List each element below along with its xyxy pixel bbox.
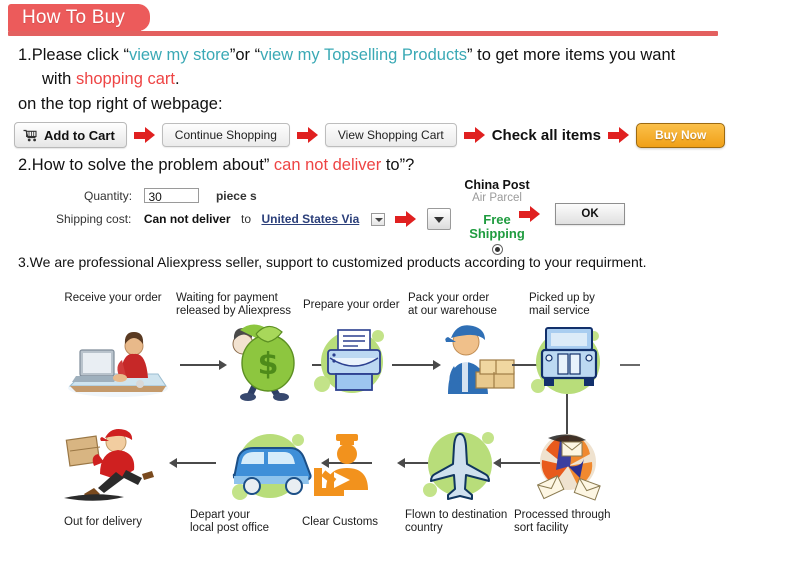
running-courier-icon	[58, 424, 168, 504]
flow-dash-right	[620, 364, 640, 366]
check-all-items-text: Check all items	[492, 127, 601, 144]
quantity-unit-label: piece s	[216, 189, 257, 203]
step1-line3: on the top right of webpage:	[18, 95, 223, 114]
can-not-deliver-highlight: can not deliver	[274, 156, 381, 174]
step1-text-c: ” to get more items you want	[467, 46, 675, 64]
arrow-icon-2	[297, 127, 318, 143]
arrow-icon-3	[464, 127, 485, 143]
how-to-buy-page: How To Buy 1.Please click “view my store…	[0, 0, 800, 564]
continue-shopping-button[interactable]: Continue Shopping	[162, 123, 290, 147]
add-to-cart-button[interactable]: Add to Cart	[14, 122, 127, 148]
arrow-icon-5	[395, 211, 416, 227]
quantity-label: Quantity:	[84, 189, 132, 203]
view-shopping-cart-label: View Shopping Cart	[338, 128, 444, 142]
step1-line1: 1.Please click “view my store”or “view m…	[18, 46, 675, 65]
add-to-cart-label: Add to Cart	[44, 128, 115, 143]
flow-arrow-1	[180, 364, 220, 366]
view-topselling-products-link[interactable]: view my Topselling Products	[260, 46, 467, 64]
step1-number: 1.	[18, 46, 32, 64]
flow-label-flown-to-destination-2: country	[405, 522, 515, 535]
chevron-down-icon-large[interactable]	[427, 208, 451, 230]
printer-icon	[300, 318, 396, 404]
flow-label-waiting-for-payment-1: Waiting for payment	[176, 292, 304, 305]
shipping-to-label: to	[241, 212, 251, 226]
header-tab: How To Buy	[8, 4, 141, 31]
shipping-destination-link[interactable]: United States Via	[261, 212, 359, 226]
flow-label-depart-your-1: Depart your	[190, 509, 300, 522]
step2-text-a: How to solve the problem about”	[32, 156, 274, 174]
flow-label-processed-through-2: sort facility	[514, 522, 624, 535]
flow-label-receive-your-order: Receive your order	[58, 292, 168, 305]
arrow-icon-1	[134, 127, 155, 143]
shopping-cart-icon	[23, 129, 38, 142]
buy-now-button[interactable]: Buy Now	[636, 123, 725, 148]
flow-label-clear-customs: Clear Customs	[302, 516, 402, 529]
money-bag-icon: $	[222, 318, 308, 402]
checkout-button-row: Add to Cart Continue Shopping View Shopp…	[14, 120, 725, 150]
chevron-down-icon-small[interactable]	[371, 213, 385, 226]
flow-label-pack-your-order-1: Pack your order	[408, 292, 518, 305]
buy-now-label: Buy Now	[655, 128, 706, 142]
flow-label-out-for-delivery: Out for delivery	[64, 516, 174, 529]
warehouse-worker-boxes-icon	[424, 316, 524, 406]
step1-line2: with shopping cart.	[42, 70, 180, 89]
step3-number: 3	[18, 254, 26, 270]
step1-text-a: Please click “	[32, 46, 129, 64]
step2-text-b: to”?	[381, 156, 414, 174]
customs-officer-icon	[300, 428, 390, 508]
mail-sorting-icon	[518, 420, 618, 512]
free-shipping-line2: Shipping	[452, 227, 542, 241]
step1-line2-text-b: .	[175, 70, 180, 88]
step3-line: 3.We are professional Aliexpress seller,…	[18, 254, 647, 270]
page-header-banner: How To Buy	[0, 4, 800, 34]
view-my-store-link[interactable]: view my store	[129, 46, 230, 64]
shipping-status-text: Can not deliver	[144, 212, 231, 226]
ok-button[interactable]: OK	[555, 203, 625, 225]
flow-label-flown-to-destination-1: Flown to destination	[405, 509, 530, 522]
step1-line2-text-a: with	[42, 70, 76, 88]
step1-text-b: ”or “	[230, 46, 260, 64]
flow-label-depart-your-2: local post office	[190, 522, 310, 535]
shipping-flow-diagram: Receive your order Waiting for payment r…	[0, 288, 800, 558]
shipping-cost-label: Shipping cost:	[56, 212, 131, 226]
flow-label-picked-up-1: Picked up by	[529, 292, 629, 305]
carrier-name: China Post	[452, 178, 542, 192]
quantity-input[interactable]: 30	[144, 188, 199, 203]
delivery-truck-icon	[518, 316, 614, 406]
flow-label-processed-through-1: Processed through	[514, 509, 634, 522]
flow-label-prepare-your-order: Prepare your order	[303, 299, 413, 312]
svg-text:$: $	[258, 347, 279, 382]
arrow-icon-4	[608, 127, 629, 143]
shipping-cost-row: Shipping cost: Can not deliver to United…	[56, 208, 451, 230]
shopping-cart-highlight: shopping cart	[76, 70, 175, 88]
step3-text: .We are professional Aliexpress seller, …	[26, 254, 647, 270]
continue-shopping-label: Continue Shopping	[175, 128, 277, 142]
step2-number: 2.	[18, 156, 32, 174]
person-at-computer-icon	[62, 330, 174, 398]
flow-arrow-5	[176, 462, 216, 464]
flow-label-waiting-for-payment-2: released by Aliexpress	[176, 305, 312, 318]
ok-button-label: OK	[581, 208, 598, 220]
carrier-service: Air Parcel	[452, 192, 542, 205]
step2-line: 2.How to solve the problem about” can no…	[18, 156, 414, 175]
header-divider-rule	[8, 31, 718, 36]
arrow-icon-6	[519, 206, 540, 222]
quantity-row: Quantity: 30 piece s	[84, 187, 257, 205]
page-title: How To Buy	[22, 7, 125, 29]
view-shopping-cart-button[interactable]: View Shopping Cart	[325, 123, 457, 147]
